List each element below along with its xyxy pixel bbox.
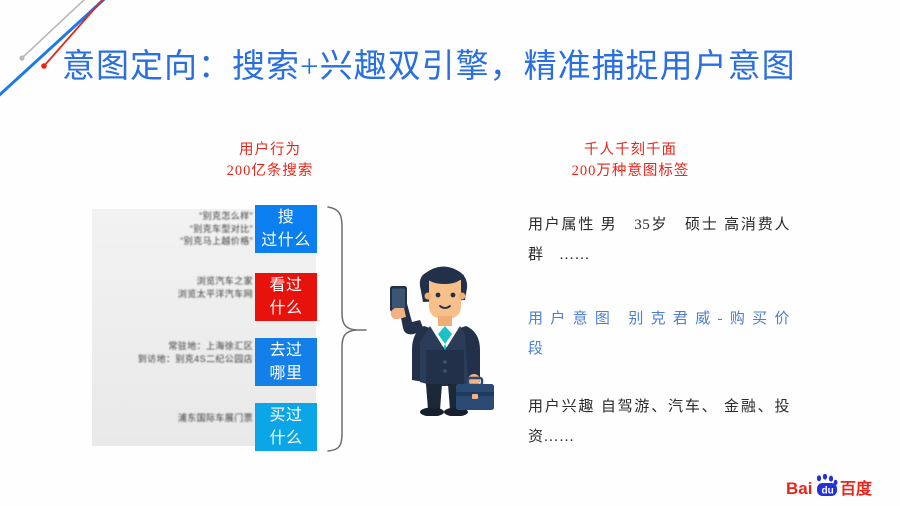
behavior-queries-location: 常驻地：上海徐汇区到访地：别克4S二纪公园店 — [95, 340, 253, 365]
left-column-header: 用户行为 200亿条搜索 — [180, 140, 360, 182]
profile-attribute-tail: 群 …… — [528, 240, 790, 270]
baidu-logo-bai: Bai — [786, 479, 812, 498]
right-header-line1: 千人千刻千面 — [528, 140, 733, 161]
profile-interest-row: 用户兴趣 自驾游、汽车、 金融、投 资…… — [528, 392, 790, 452]
baidu-logo-cn: 百度 — [840, 479, 873, 498]
left-header-line1: 用户行为 — [180, 140, 360, 161]
baidu-logo: Bai du 百度 — [786, 474, 884, 500]
right-column-header: 千人千刻千面 200万种意图标签 — [528, 140, 733, 182]
behavior-queries-browse: 浏览汽车之家浏览太平洋汽车网 — [108, 275, 253, 300]
profile-interest-tail: 资…… — [528, 422, 790, 452]
profile-interest-label: 用户兴趣 — [528, 399, 595, 415]
page-title: 意图定向：搜索+兴趣双引擎，精准捕捉用户意图 — [62, 46, 796, 88]
behavior-tag-search[interactable]: 搜 过什么 — [255, 205, 317, 253]
profile-interest-value: 自驾游、汽车、 金融、投 — [601, 399, 790, 415]
left-header-line2: 200亿条搜索 — [180, 161, 360, 182]
behavior-queries-purchase: 浦东国际车展门票 — [100, 412, 253, 425]
behavior-tag-bought-line1: 买过 — [269, 404, 302, 427]
profile-attribute-value: 男 35岁 硕士 高消费人 — [601, 217, 790, 233]
slide-canvas: 意图定向：搜索+兴趣双引擎，精准捕捉用户意图 用户行为 200亿条搜索 千人千刻… — [0, 0, 900, 506]
profile-intent-tail: 段 — [528, 334, 790, 364]
profile-attribute-label: 用户属性 — [528, 217, 595, 233]
behavior-tag-search-line1: 搜 — [261, 206, 311, 229]
behavior-tag-visited[interactable]: 去过 哪里 — [255, 338, 317, 386]
behavior-tag-visited-line1: 去过 — [269, 339, 302, 362]
behavior-tag-viewed-line1: 看过 — [269, 274, 302, 297]
profile-attribute-row: 用户属性 男 35岁 硕士 高消费人 群 …… — [528, 210, 790, 270]
behavior-queries-search: “别克怎么样”“别克车型对比”“别克马上越价格” — [108, 210, 253, 248]
curly-brace-connector — [326, 205, 368, 453]
profile-intent-row: 用户意图 别克君威-购买价 段 — [528, 304, 790, 364]
behavior-tag-bought-line2: 什么 — [269, 427, 302, 450]
behavior-tag-viewed[interactable]: 看过 什么 — [255, 273, 317, 321]
behavior-tag-search-line2: 过什么 — [261, 229, 311, 252]
profile-intent-value: 别克君威-购买价 — [628, 311, 790, 327]
behavior-tag-bought[interactable]: 买过 什么 — [255, 403, 317, 451]
profile-intent-label: 用户意图 — [528, 311, 617, 327]
businessman-illustration — [368, 258, 518, 416]
right-header-line2: 200万种意图标签 — [528, 161, 733, 182]
baidu-logo-du: du — [822, 486, 834, 497]
behavior-tag-viewed-line2: 什么 — [269, 297, 302, 320]
behavior-tag-visited-line2: 哪里 — [269, 362, 302, 385]
